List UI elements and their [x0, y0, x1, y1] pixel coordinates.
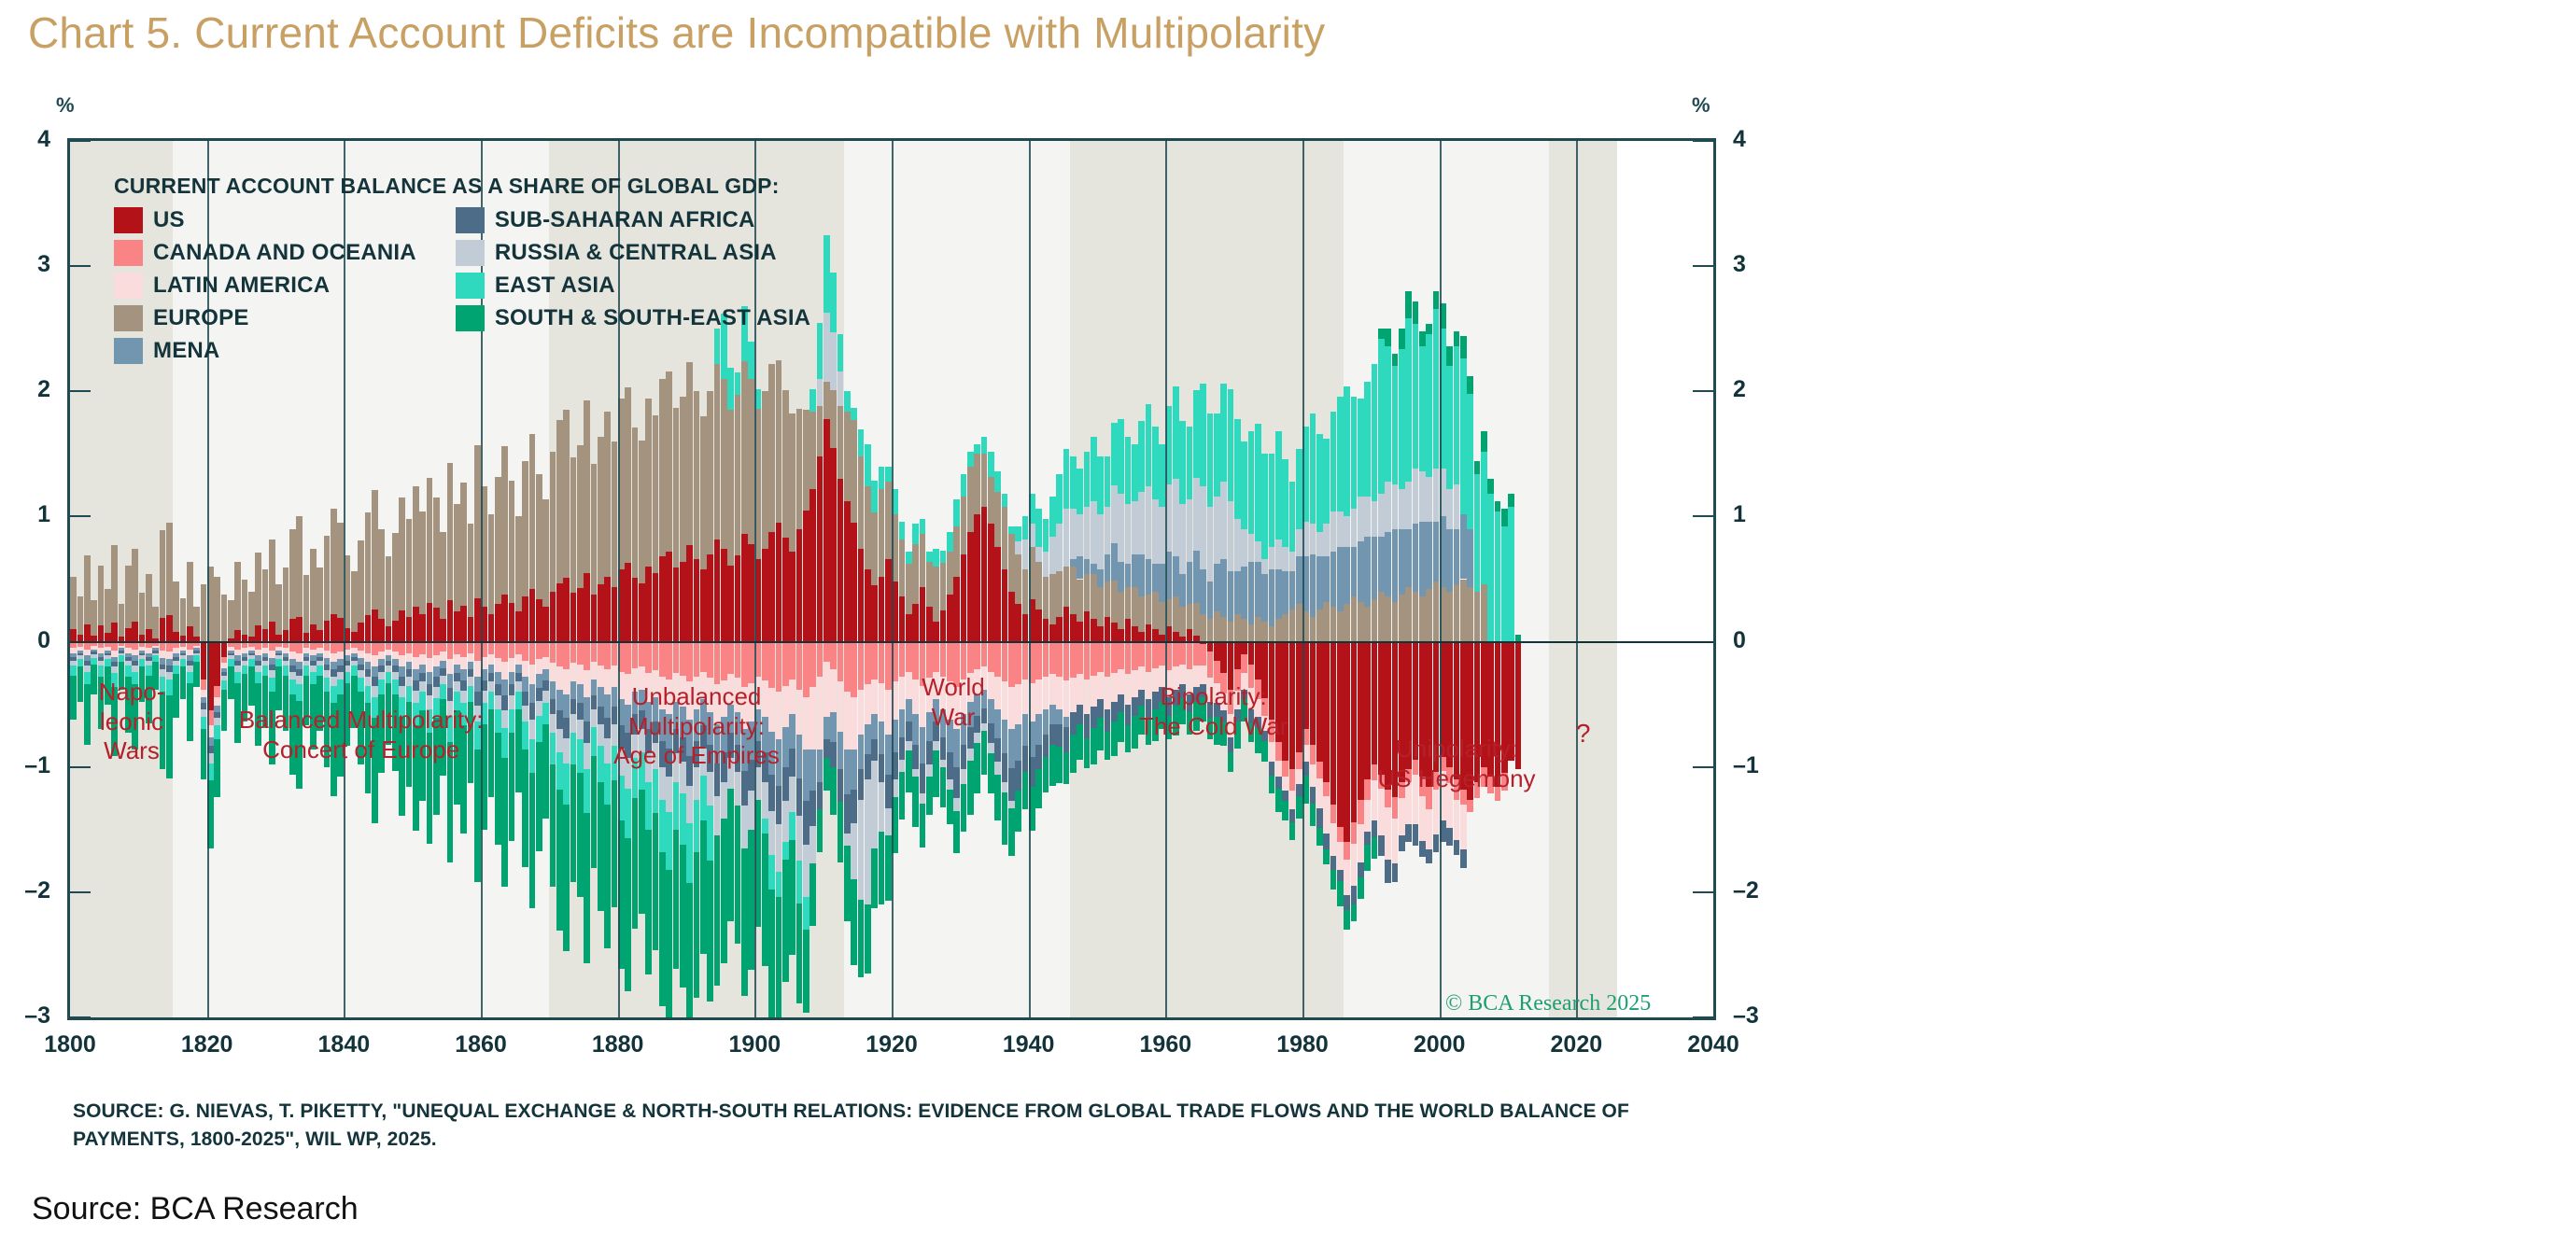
bar-segment: [146, 574, 152, 629]
stacked-bar: [838, 141, 844, 1017]
bar-segment: [166, 652, 173, 659]
bar-segment: [1234, 614, 1241, 642]
stacked-bar: [1289, 141, 1296, 1017]
stacked-bar: [1179, 141, 1186, 1017]
bar-segment: [865, 444, 871, 487]
bar-segment: [1495, 501, 1501, 511]
bar-segment: [1460, 849, 1467, 868]
bar-segment: [865, 684, 871, 724]
bar-segment: [111, 666, 118, 673]
stacked-bar: [1508, 141, 1514, 1017]
bar-segment: [947, 532, 953, 552]
stacked-bar: [1405, 141, 1412, 1017]
bar-segment: [1454, 484, 1460, 529]
bar-segment: [1152, 427, 1159, 499]
bar-segment: [577, 773, 584, 897]
bar-segment: [1433, 581, 1440, 641]
bar-segment: [933, 750, 939, 797]
bar-segment: [974, 514, 980, 642]
bar-segment: [612, 642, 618, 666]
bar-segment: [214, 697, 220, 706]
bar-segment: [1474, 461, 1481, 473]
bar-segment: [255, 672, 261, 683]
bar-segment: [1399, 349, 1405, 489]
bar-segment: [1433, 309, 1440, 469]
bar-segment: [214, 577, 220, 642]
bar-segment: [981, 454, 988, 506]
bar-segment: [296, 653, 303, 662]
bar-segment: [1084, 714, 1091, 737]
bar-segment: [858, 429, 865, 457]
bar-segment: [1310, 764, 1316, 787]
x-axis-label: 1960: [1114, 1031, 1217, 1058]
y-axis-label: 3: [1733, 251, 1776, 278]
bar-segment: [1241, 619, 1247, 641]
bar-segment: [386, 666, 392, 672]
bar-segment: [686, 786, 693, 823]
bar-segment: [214, 686, 220, 697]
bar-segment: [1159, 642, 1165, 666]
stacked-bar: [1132, 141, 1138, 1017]
bar-segment: [879, 489, 885, 577]
bar-segment: [714, 539, 721, 642]
bar-segment: [577, 642, 584, 665]
bar-segment: [201, 709, 207, 717]
bar-segment: [1111, 543, 1118, 581]
bar-segment: [296, 684, 303, 700]
legend-swatch-icon: [114, 240, 143, 266]
bar-segment: [1310, 745, 1316, 764]
legend-item: RUSSIA & CENTRAL ASIA: [456, 238, 810, 268]
bar-segment: [1056, 642, 1063, 678]
bar-segment: [1351, 886, 1358, 904]
legend-swatch-icon: [114, 207, 143, 233]
bar-segment: [289, 680, 296, 694]
bar-segment: [1200, 614, 1206, 642]
bar-segment: [399, 677, 405, 685]
bar-segment: [1467, 529, 1473, 587]
bar-segment: [1413, 824, 1419, 846]
era-label: Balanced Multipolarity: Concert of Europ…: [207, 706, 515, 764]
bar-segment: [920, 534, 926, 586]
stacked-bar: [1118, 141, 1124, 1017]
bar-segment: [1043, 677, 1049, 709]
bar-segment: [659, 852, 666, 1006]
era-label: ?: [1555, 718, 1612, 750]
stacked-bar: [947, 141, 953, 1017]
bar-segment: [372, 490, 378, 609]
bar-segment: [1002, 494, 1008, 506]
bar-segment: [1419, 346, 1426, 471]
bar-segment: [1097, 569, 1104, 587]
bar-segment: [289, 529, 296, 620]
bar-segment: [1405, 529, 1412, 587]
y-axis-label: 0: [7, 627, 50, 654]
bar-segment: [1228, 389, 1234, 502]
stacked-bar: [879, 141, 885, 1017]
x-axis-label: 1940: [978, 1031, 1080, 1058]
bar-segment: [296, 676, 303, 684]
bar-segment: [632, 642, 639, 668]
bar-segment: [1063, 727, 1070, 752]
bar-segment: [1372, 820, 1378, 836]
bar-segment: [372, 609, 378, 642]
bar-segment: [98, 666, 105, 677]
bar-segment: [1344, 604, 1350, 641]
bar-segment: [967, 761, 974, 815]
bar-segment: [440, 661, 446, 668]
bar-segment: [1248, 624, 1255, 642]
bar-segment: [727, 410, 734, 565]
bar-segment: [762, 549, 768, 641]
bar-segment: [296, 516, 303, 616]
bar-segment: [1296, 796, 1302, 819]
bar-segment: [1351, 904, 1358, 920]
bar-segment: [817, 809, 823, 852]
bar-segment: [1118, 592, 1124, 629]
bar-segment: [961, 784, 967, 832]
bar-segment: [851, 790, 857, 823]
bar-segment: [1173, 556, 1179, 596]
bar-segment: [645, 399, 652, 567]
bar-segment: [358, 658, 364, 665]
bar-segment: [310, 642, 317, 650]
bar-segment: [1200, 644, 1206, 666]
bar-segment: [1330, 511, 1337, 552]
bar-segment: [536, 599, 542, 642]
bar-segment: [1392, 602, 1399, 642]
bar-segment: [1008, 768, 1015, 801]
bar-segment: [1501, 526, 1508, 641]
bar-segment: [522, 461, 528, 596]
bar-segment: [1146, 642, 1152, 672]
bar-segment: [803, 511, 809, 642]
bar-segment: [1446, 489, 1453, 529]
bar-segment: [193, 662, 200, 687]
bar-segment: [1419, 331, 1426, 346]
bar-segment: [1056, 474, 1063, 525]
stacked-bar: [988, 141, 994, 1017]
bar-segment: [577, 588, 584, 642]
bar-segment: [1316, 762, 1323, 778]
bar-segment: [228, 600, 234, 638]
bar-segment: [1200, 486, 1206, 569]
bar-segment: [337, 666, 344, 672]
bar-segment: [899, 737, 906, 760]
bar-segment: [372, 642, 378, 656]
bar-segment: [1049, 705, 1056, 724]
stacked-bar: [1337, 141, 1344, 1017]
bar-segment: [844, 692, 851, 750]
bar-segment: [84, 555, 91, 624]
bar-segment: [1323, 834, 1330, 849]
bar-segment: [234, 672, 241, 683]
bar-segment: [542, 657, 549, 669]
bar-segment: [727, 642, 734, 675]
bar-segment: [776, 360, 782, 523]
bar-segment: [741, 534, 748, 641]
bar-segment: [817, 456, 823, 642]
bar-segment: [680, 397, 686, 562]
bar-segment: [289, 659, 296, 666]
bar-segment: [940, 551, 947, 563]
bar-segment: [659, 767, 666, 800]
bar-segment: [515, 692, 522, 709]
bar-segment: [1426, 589, 1432, 641]
bar-segment: [468, 524, 474, 616]
stacked-bar: [851, 141, 857, 1017]
bar-segment: [1385, 329, 1391, 346]
bar-segment: [1097, 514, 1104, 569]
bar-segment: [515, 642, 522, 654]
x-gridline: [892, 141, 894, 1017]
y-axis-label: 3: [7, 251, 50, 278]
bar-segment: [119, 655, 125, 662]
bar-segment: [488, 673, 495, 681]
bar-segment: [879, 754, 885, 782]
bar-segment: [399, 610, 405, 642]
bar-segment: [419, 681, 426, 692]
bar-segment: [132, 642, 138, 650]
bar-segment: [809, 489, 816, 642]
bar-segment: [1358, 399, 1364, 497]
bar-segment: [1269, 569, 1275, 627]
bar-segment: [1125, 504, 1132, 564]
bar-segment: [1364, 537, 1371, 607]
bar-segment: [1296, 604, 1302, 641]
legend-swatch-icon: [114, 338, 143, 364]
legend-item-label: CANADA AND OCEANIA: [153, 240, 416, 266]
bar-segment: [1310, 554, 1316, 617]
bar-segment: [454, 504, 460, 611]
bar-segment: [1049, 537, 1056, 574]
bar-segment: [1214, 413, 1220, 497]
bar-segment: [1111, 623, 1118, 641]
bar-segment: [214, 642, 220, 686]
bar-segment: [386, 650, 392, 656]
bar-segment: [1070, 559, 1077, 567]
bar-segment: [1063, 607, 1070, 642]
bar-segment: [542, 703, 549, 724]
bar-segment: [920, 727, 926, 764]
bar-segment: [501, 680, 508, 695]
legend-title: CURRENT ACCOUNT BALANCE AS A SHARE OF GL…: [114, 174, 810, 199]
bar-segment: [1132, 587, 1138, 627]
bar-segment: [1008, 729, 1015, 768]
bar-segment: [1255, 424, 1261, 541]
bar-segment: [1111, 485, 1118, 543]
bar-segment: [1344, 860, 1350, 895]
bar-segment: [1022, 746, 1029, 772]
bar-segment: [427, 478, 433, 603]
bar-segment: [228, 666, 234, 699]
bar-segment: [1187, 427, 1193, 499]
bar-segment: [1084, 642, 1091, 680]
bar-segment: [468, 677, 474, 685]
bar-segment: [296, 642, 303, 653]
bar-segment: [1049, 724, 1056, 744]
bar-segment: [392, 652, 399, 659]
bar-segment: [1077, 580, 1083, 623]
bar-segment: [1358, 800, 1364, 825]
bar-segment: [776, 824, 782, 872]
bar-segment: [406, 642, 413, 653]
bar-segment: [550, 592, 556, 642]
bar-segment: [1070, 642, 1077, 679]
stacked-bar: [1474, 141, 1481, 1017]
bar-segment: [413, 680, 419, 691]
bar-segment: [1077, 469, 1083, 513]
bar-segment: [844, 412, 851, 502]
y-axis-label: –1: [1733, 752, 1776, 779]
bar-segment: [741, 642, 748, 687]
bar-segment: [899, 522, 906, 539]
bar-segment: [700, 642, 707, 672]
bar-segment: [1220, 642, 1227, 674]
bar-segment: [419, 642, 426, 654]
bar-segment: [906, 642, 912, 672]
bar-segment: [830, 669, 837, 712]
bar-segment: [1077, 514, 1083, 557]
bar-segment: [1275, 789, 1282, 812]
bar-segment: [563, 738, 570, 764]
y-axis-label: 4: [1733, 126, 1776, 153]
bar-segment: [119, 604, 125, 637]
bar-segment: [474, 677, 481, 692]
bar-segment: [1296, 449, 1302, 529]
bar-segment: [577, 665, 584, 684]
bar-segment: [1413, 469, 1419, 524]
y-axis-tick: [70, 891, 91, 893]
bar-segment: [741, 361, 748, 534]
bar-segment: [926, 764, 933, 777]
bar-segment: [399, 642, 405, 656]
stacked-bar: [1035, 141, 1042, 1017]
bar-segment: [994, 471, 1001, 491]
bar-segment: [331, 653, 337, 662]
bar-segment: [707, 861, 713, 1001]
bar-segment: [871, 714, 878, 739]
bar-segment: [372, 677, 378, 685]
bar-segment: [440, 619, 446, 641]
stacked-bar: [1296, 141, 1302, 1017]
bar-segment: [1084, 611, 1091, 641]
bar-segment: [1358, 824, 1364, 862]
bar-segment: [331, 669, 337, 677]
bar-segment: [542, 724, 549, 819]
bar-segment: [166, 659, 173, 666]
bar-segment: [1275, 569, 1282, 620]
bar-segment: [844, 846, 851, 920]
bar-segment: [1187, 562, 1193, 605]
bar-segment: [851, 697, 857, 750]
bar-segment: [899, 642, 906, 678]
bar-segment: [255, 553, 261, 625]
bar-segment: [468, 653, 474, 662]
bar-segment: [1392, 529, 1399, 602]
bar-segment: [1022, 569, 1029, 614]
bar-segment: [1413, 301, 1419, 324]
bar-segment: [570, 764, 577, 882]
bar-segment: [920, 764, 926, 793]
bar-segment: [871, 585, 878, 641]
legend-swatch-icon: [456, 305, 485, 331]
bar-segment: [721, 549, 727, 641]
bar-segment: [372, 655, 378, 666]
bar-segment: [625, 838, 631, 991]
bar-segment: [111, 642, 118, 651]
bar-segment: [1207, 642, 1214, 652]
bar-segment: [645, 567, 652, 641]
bar-segment: [166, 666, 173, 672]
bar-segment: [468, 617, 474, 642]
bar-segment: [1228, 752, 1234, 772]
y-axis-label: 1: [1733, 501, 1776, 528]
bar-segment: [1289, 571, 1296, 609]
bar-segment: [707, 772, 713, 806]
bar-segment: [351, 571, 358, 631]
bar-segment: [413, 486, 419, 607]
bar-segment: [1105, 456, 1111, 507]
bar-segment: [714, 364, 721, 539]
bar-segment: [1228, 622, 1234, 641]
y-axis-label: –2: [7, 877, 50, 904]
bar-segment: [981, 642, 988, 667]
x-gridline: [1165, 141, 1167, 1017]
bar-segment: [419, 654, 426, 665]
bar-segment: [694, 559, 700, 642]
bar-segment: [269, 658, 275, 665]
bar-segment: [550, 764, 556, 887]
bar-segment: [351, 666, 358, 676]
stacked-bar: [1364, 141, 1371, 1017]
bar-segment: [570, 663, 577, 681]
bar-segment: [961, 497, 967, 554]
era-label: Bipolarity: The Cold War: [1092, 682, 1335, 741]
era-label: World War: [879, 673, 1028, 732]
bar-segment: [522, 677, 528, 692]
bar-segment: [378, 672, 385, 680]
bar-segment: [1310, 524, 1316, 553]
bar-segment: [105, 589, 111, 633]
bar-segment: [988, 743, 994, 753]
bar-segment: [1426, 849, 1432, 863]
bar-segment: [1385, 482, 1391, 532]
bar-segment: [399, 655, 405, 666]
bar-segment: [768, 642, 775, 689]
bar-segment: [1405, 824, 1412, 842]
bar-segment: [460, 642, 467, 657]
bar-segment: [659, 379, 666, 556]
bar-segment: [283, 642, 289, 649]
bar-segment: [865, 642, 871, 685]
stacked-bar: [70, 141, 77, 1017]
bar-segment: [659, 800, 666, 852]
bar-segment: [289, 666, 296, 672]
bar-segment: [509, 642, 515, 658]
bar-segment: [809, 642, 816, 687]
stacked-bar: [1419, 141, 1426, 1017]
bar-segment: [365, 642, 372, 653]
bar-segment: [1337, 870, 1344, 881]
bar-segment: [639, 790, 645, 914]
bar-segment: [269, 651, 275, 658]
bar-segment: [577, 445, 584, 588]
bar-segment: [1241, 441, 1247, 529]
source-note: SOURCE: G. NIEVAS, T. PIKETTY, "UNEQUAL …: [73, 1098, 1716, 1155]
bar-segment: [591, 595, 598, 642]
bar-segment: [501, 662, 508, 680]
